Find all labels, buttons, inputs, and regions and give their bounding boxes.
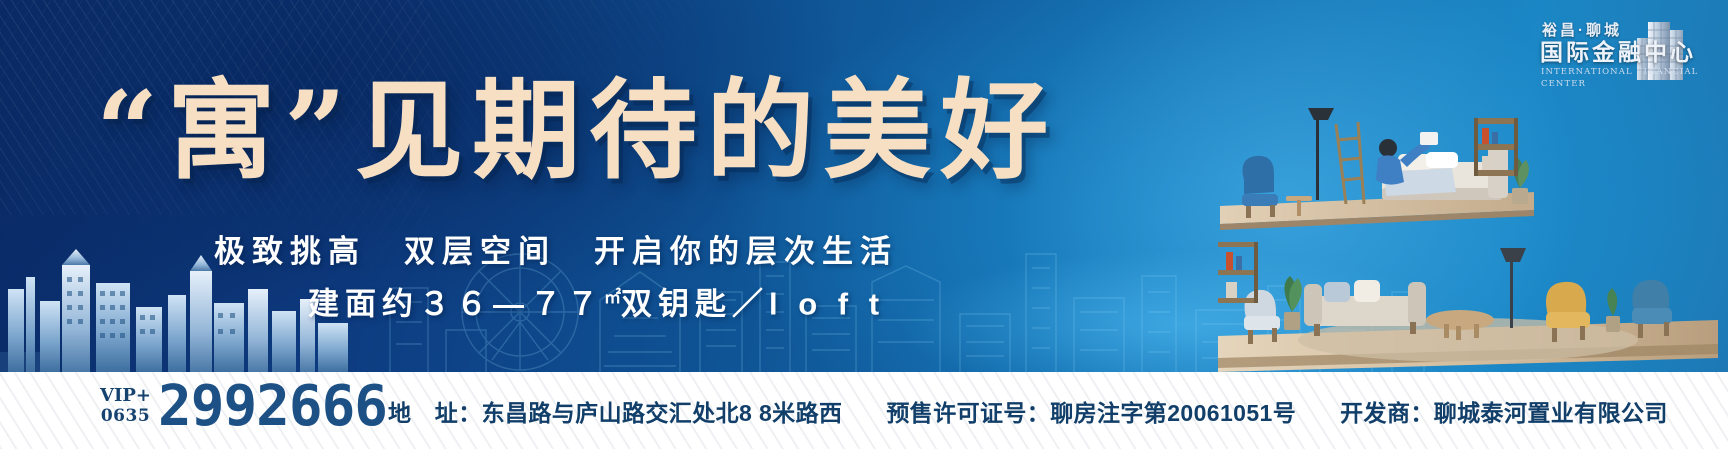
vip-label: VIP+ (100, 385, 151, 406)
area-unit: ㎡ (604, 288, 621, 307)
footer-info-bar: VIP+ 0635 2992666 地 址： 东昌路与庐山路交汇处北8 8米路西… (0, 372, 1728, 449)
developer-label: 开发商： (1340, 394, 1434, 428)
logo-line-2: 国际金融中心 (1536, 39, 1706, 66)
license-label: 预售许可证号： (886, 394, 1050, 428)
address-value: 东昌路与庐山路交汇处北8 8米路西 (482, 394, 843, 428)
living-room-scene-image (1218, 208, 1718, 372)
area-range: 建面约３６—７７ (308, 286, 604, 321)
logo-line-3: INTERNATIONAL FINANCIAL CENTER (1536, 66, 1706, 90)
subtitle-features: 极致挑高 双层空间 开启你的层次生活 (214, 232, 1314, 272)
developer-value: 聊城泰河置业有限公司 (1434, 394, 1668, 428)
hero-background: “寓”见期待的美好 极致挑高 双层空间 开启你的层次生活 建面约３６—７７㎡双钥… (0, 0, 1728, 372)
vip-label-block: VIP+ 0635 (100, 385, 151, 429)
property-advertisement-banner: “寓”见期待的美好 极致挑高 双层空间 开启你的层次生活 建面约３６—７７㎡双钥… (0, 0, 1728, 449)
area-code: 0635 (100, 406, 151, 427)
unit-type: 双钥匙／l o f t (621, 286, 885, 321)
license-value: 聊房注字第20061051号 (1050, 394, 1296, 428)
project-logo: 裕昌·聊城 国际金融中心 INTERNATIONAL FINANCIAL CEN… (1536, 22, 1706, 108)
headline-text: “寓”见期待的美好 (96, 72, 1196, 192)
address-label: 地 址： (388, 394, 482, 428)
logo-line-1: 裕昌·聊城 (1536, 22, 1706, 39)
footer-details: 地 址： 东昌路与庐山路交汇处北8 8米路西 预售许可证号： 聊房注字第2006… (388, 372, 1668, 449)
hotline-block: VIP+ 0635 2992666 (100, 378, 387, 436)
phone-number: 2992666 (158, 378, 387, 436)
